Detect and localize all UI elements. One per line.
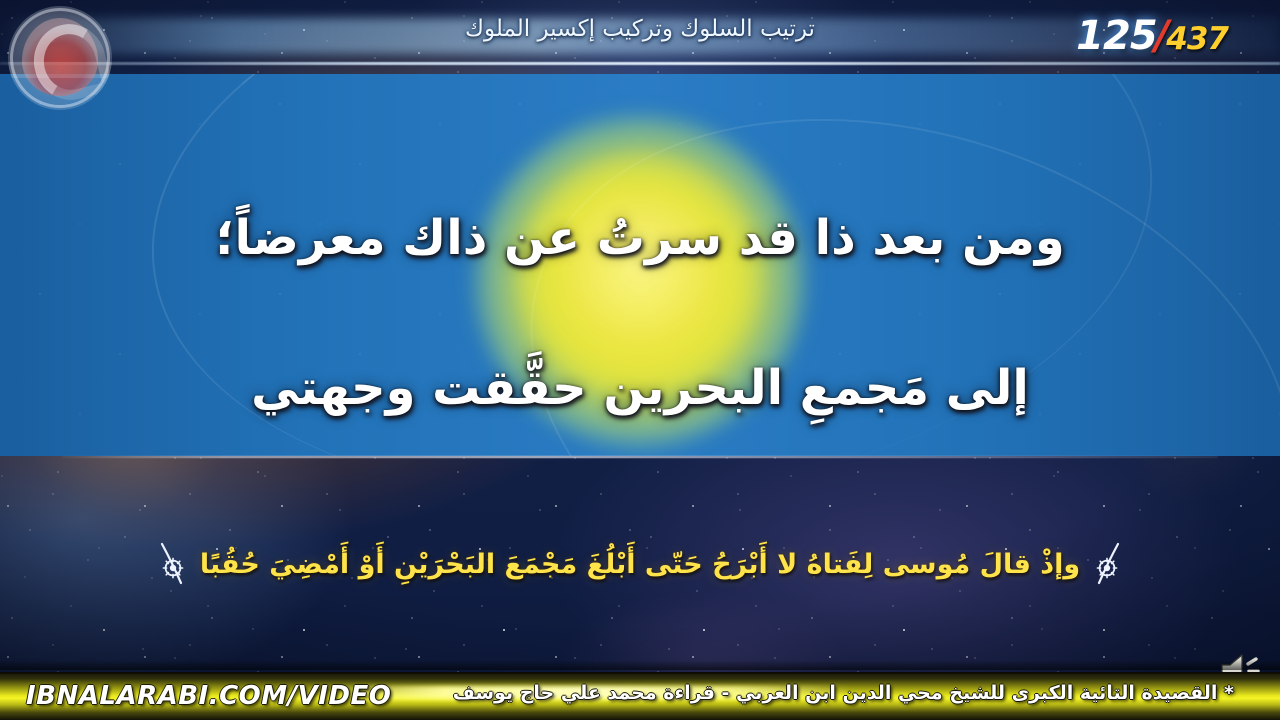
- section-divider: [62, 456, 1218, 458]
- site-url-label[interactable]: IBNALARABI.COM/VIDEO: [26, 681, 391, 711]
- logo-horizontal-band: [8, 62, 112, 78]
- poem-panel: ومن بعد ذا قد سرتُ عن ذاك معرضاً؛ إلى مَ…: [0, 74, 1280, 456]
- bottom-bar: IBNALARABI.COM/VIDEO * القصيدة التائية ا…: [0, 672, 1280, 720]
- slide-counter-total: 437: [1166, 21, 1228, 57]
- ibnalarabi-logo-icon[interactable]: [8, 6, 112, 110]
- credit-label: * القصيدة التائية الكبرى للشيخ محي الدين…: [453, 682, 1234, 704]
- header-divider-line: [0, 62, 1280, 65]
- video-frame: ومن بعد ذا قد سرتُ عن ذاك معرضاً؛ إلى مَ…: [0, 0, 1280, 720]
- quran-verse-text: وإذْ قالَ مُوسى لِفَتاهُ لا أَبْرَحُ حَت…: [200, 549, 1080, 580]
- slide-counter: 125/437: [1076, 13, 1228, 59]
- ayah-ornament-right-icon: [1094, 541, 1124, 587]
- bottom-bar-shadow: [0, 660, 1280, 670]
- poem-line-2: إلى مَجمعِ البحرين حقَّقت وجهتي: [0, 360, 1280, 416]
- poem-line-1: ومن بعد ذا قد سرتُ عن ذاك معرضاً؛: [0, 210, 1280, 266]
- ayah-ornament-left-icon: [156, 541, 186, 587]
- quran-verse-row: وإذْ قالَ مُوسى لِفَتاهُ لا أَبْرَحُ حَت…: [0, 534, 1280, 594]
- header-bar: ترتيب السلوك وتركيب إكسير الملوك 125/437: [0, 0, 1280, 72]
- slide-counter-current: 125: [1076, 13, 1157, 59]
